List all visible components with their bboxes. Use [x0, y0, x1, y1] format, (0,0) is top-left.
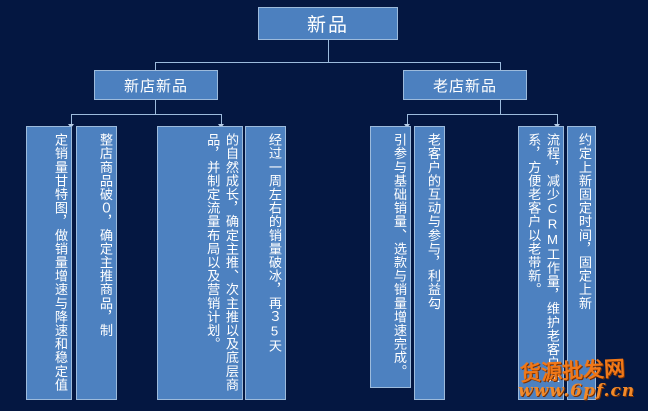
node-branch-old-store-label: 老店新品 [433, 75, 497, 96]
connector-root-bus [155, 62, 500, 63]
leaf-new-store-icebreak-text: 经过一周左右的销量破冰，再３5天 [248, 133, 283, 395]
leaf-old-store-interaction-text: 老客户的互动与参与，利益勾 [417, 133, 442, 395]
leaf-new-store-growth-text: 的自然成长，确定主推、次主推以及底层商品，并制定流量布局以及营销计划。 [160, 133, 240, 395]
node-branch-new-store[interactable]: 新店新品 [94, 70, 218, 100]
leaf-old-store-schedule[interactable]: 约定上新固定时间，固定上新 [567, 126, 596, 400]
leaf-new-store-icebreak[interactable]: 经过一周左右的销量破冰，再３5天 [245, 126, 286, 400]
diagram-canvas: 新品 新店新品 老店新品 定销量甘特图，做销量增速与降速和稳定值 整店商品破０，… [0, 0, 648, 411]
leaf-new-store-growth[interactable]: 的自然成长，确定主推、次主推以及底层商品，并制定流量布局以及营销计划。 [157, 126, 243, 400]
leaf-new-store-gantt-text: 定销量甘特图，做销量增速与降速和稳定值 [29, 133, 69, 395]
leaf-new-store-gantt[interactable]: 定销量甘特图，做销量增速与降速和稳定值 [26, 126, 72, 400]
leaf-old-store-volume-text: 引参与基础销量、选款与销量增速完成。 [373, 133, 408, 383]
connector-left-branch-bus [71, 114, 221, 115]
connector-right-branch-stem [500, 100, 501, 114]
node-branch-old-store[interactable]: 老店新品 [403, 70, 527, 100]
leaf-new-store-breakzero-text: 整店商品破０，确定主推商品，制 [79, 133, 114, 395]
leaf-old-store-crm[interactable]: 流程，减少CRM工作量，维护老客户关系，方便老客户以老带新。 [518, 126, 564, 400]
leaf-new-store-breakzero[interactable]: 整店商品破０，确定主推商品，制 [76, 126, 117, 400]
leaf-old-store-interaction[interactable]: 老客户的互动与参与，利益勾 [414, 126, 445, 400]
node-branch-new-store-label: 新店新品 [124, 75, 188, 96]
connector-root-stem [328, 40, 329, 62]
leaf-old-store-crm-text: 流程，减少CRM工作量，维护老客户关系，方便老客户以老带新。 [521, 133, 561, 395]
node-root-label: 新品 [307, 10, 349, 37]
connector-right-branch-bus [407, 114, 557, 115]
leaf-old-store-volume[interactable]: 引参与基础销量、选款与销量增速完成。 [370, 126, 411, 388]
leaf-old-store-schedule-text: 约定上新固定时间，固定上新 [570, 133, 593, 395]
connector-left-branch-stem [155, 100, 156, 114]
node-root[interactable]: 新品 [258, 7, 398, 40]
